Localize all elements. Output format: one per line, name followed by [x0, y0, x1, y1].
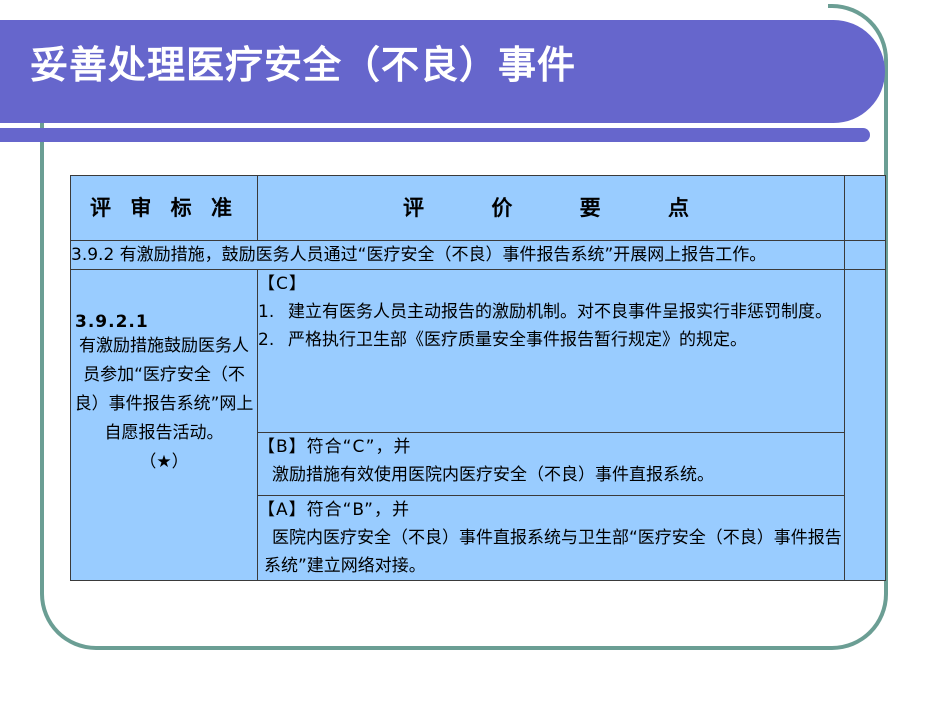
- level-c-cell: 【C】 1.建立有医务人员主动报告的激励机制。对不良事件呈报实行非惩罚制度。 2…: [258, 270, 845, 433]
- body-tail-cell: [845, 270, 886, 581]
- criteria-table-wrapper: 评 审 标 准 评 价 要 点 3.9.2 有激励措施，鼓励医务人员通过“医疗安…: [70, 175, 886, 581]
- criterion-description: 有激励措施鼓励医务人员参加“医疗安全（不良）事件报告系统”网上自愿报告活动。: [71, 332, 257, 448]
- table-section-row: 3.9.2 有激励措施，鼓励医务人员通过“医疗安全（不良）事件报告系统”开展网上…: [71, 241, 886, 270]
- level-b-cell: 【B】符合“C”，并 激励措施有效使用医院内医疗安全（不良）事件直报系统。: [258, 433, 845, 496]
- list-item-number: 1.: [258, 298, 288, 326]
- list-item-text: 严格执行卫生部《医疗质量安全事件报告暂行规定》的规定。: [288, 330, 747, 350]
- section-row-tail-blank: [845, 241, 886, 270]
- header-label-criteria: 评 审 标 准: [71, 176, 257, 240]
- page-title: 妥善处理医疗安全（不良）事件: [30, 34, 576, 89]
- slide-canvas: 妥善处理医疗安全（不良）事件 评 审 标 准 评 价 要 点 3.9.2 有激励…: [0, 0, 950, 713]
- header-cell-criteria: 评 审 标 准: [71, 176, 258, 241]
- level-c-list: 1.建立有医务人员主动报告的激励机制。对不良事件呈报实行非惩罚制度。 2.严格执…: [258, 298, 844, 354]
- criterion-star: （★）: [71, 448, 257, 477]
- criterion-cell: 3.9.2.1 有激励措施鼓励医务人员参加“医疗安全（不良）事件报告系统”网上自…: [71, 270, 258, 581]
- table-header-row: 评 审 标 准 评 价 要 点: [71, 176, 886, 241]
- header-cell-points: 评 价 要 点: [258, 176, 845, 241]
- criterion-code: 3.9.2.1: [71, 270, 257, 332]
- level-b-label: 【B】符合“C”，并: [258, 433, 844, 461]
- list-item: 2.严格执行卫生部《医疗质量安全事件报告暂行规定》的规定。: [258, 326, 844, 354]
- header-label-points: 评 价 要 点: [258, 176, 844, 240]
- criteria-table: 评 审 标 准 评 价 要 点 3.9.2 有激励措施，鼓励医务人员通过“医疗安…: [70, 175, 886, 581]
- list-item-number: 2.: [258, 326, 288, 354]
- list-item: 1.建立有医务人员主动报告的激励机制。对不良事件呈报实行非惩罚制度。: [258, 298, 844, 326]
- title-banner-underline: [0, 128, 870, 142]
- level-a-label: 【A】符合“B”，并: [258, 496, 844, 524]
- table-row: 3.9.2.1 有激励措施鼓励医务人员参加“医疗安全（不良）事件报告系统”网上自…: [71, 270, 886, 433]
- level-a-body: 医院内医疗安全（不良）事件直报系统与卫生部“医疗安全（不良）事件报告系统”建立网…: [258, 524, 844, 580]
- level-a-cell: 【A】符合“B”，并 医院内医疗安全（不良）事件直报系统与卫生部“医疗安全（不良…: [258, 496, 845, 581]
- header-cell-tail: [845, 176, 886, 241]
- level-c-label: 【C】: [258, 270, 844, 298]
- level-b-body: 激励措施有效使用医院内医疗安全（不良）事件直报系统。: [258, 461, 844, 489]
- list-item-text: 建立有医务人员主动报告的激励机制。对不良事件呈报实行非惩罚制度。: [288, 302, 832, 322]
- section-row-cell: 3.9.2 有激励措施，鼓励医务人员通过“医疗安全（不良）事件报告系统”开展网上…: [71, 241, 845, 270]
